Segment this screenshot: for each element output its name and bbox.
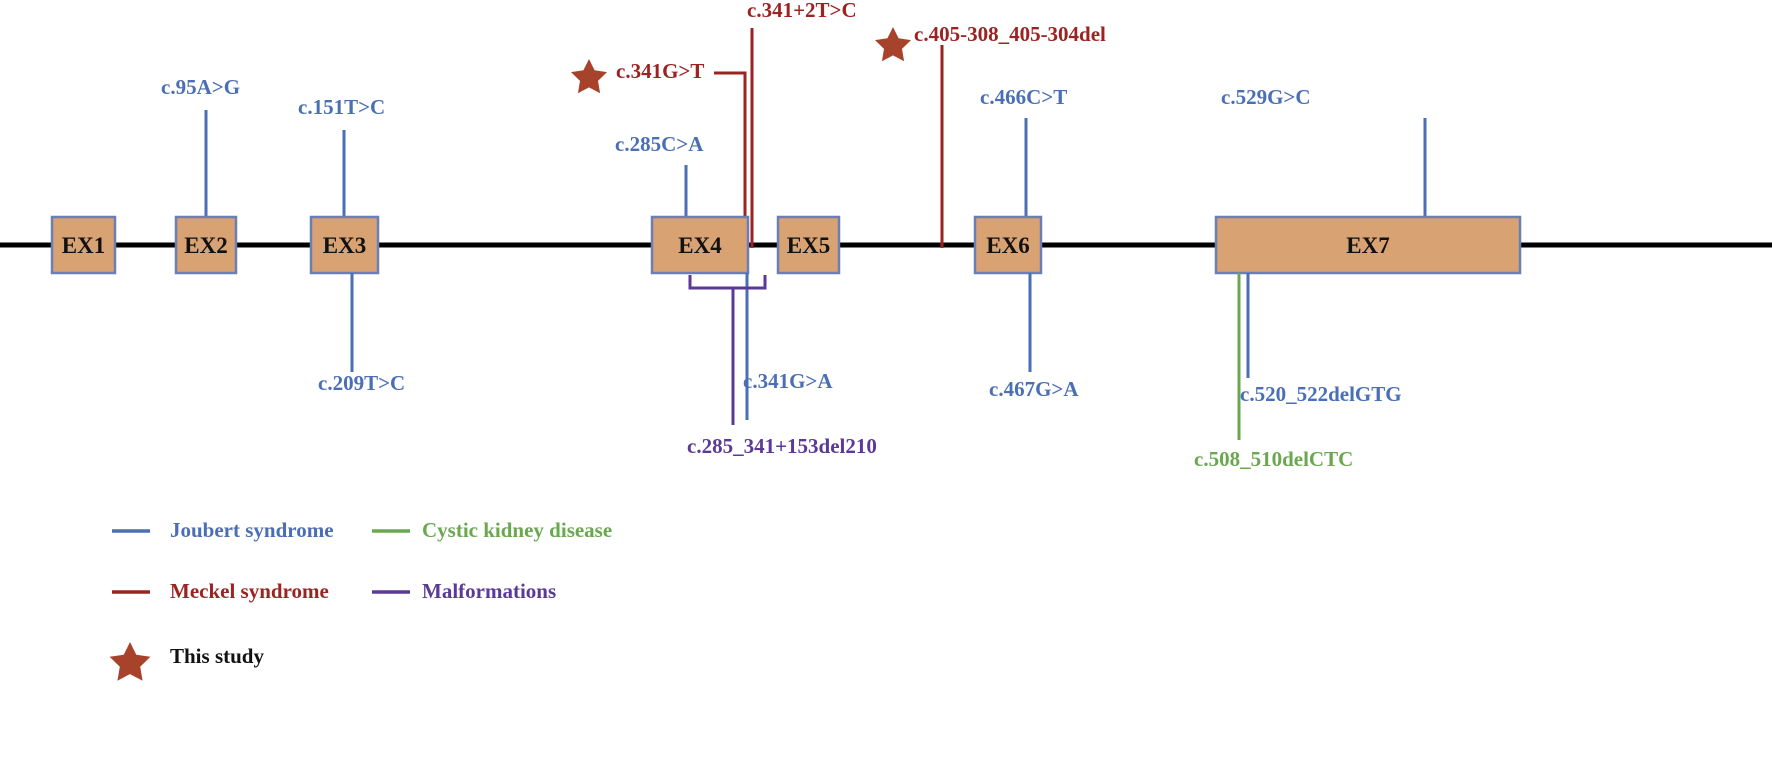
exon-label-ex4: EX4 [652, 234, 748, 257]
exon-label-ex5: EX5 [778, 234, 839, 257]
legend-label-meckel: Meckel syndrome [170, 581, 329, 602]
exon-label-ex6: EX6 [975, 234, 1041, 257]
variant-label-c405-308del: c.405-308_405-304del [914, 24, 1106, 45]
variant-label-c341GA: c.341G>A [743, 371, 833, 392]
variant-label-c209TC: c.209T>C [318, 373, 405, 394]
exon-label-ex3: EX3 [311, 234, 378, 257]
variant-label-c508-510delCTC: c.508_510delCTC [1194, 449, 1353, 470]
variant-label-c529GC: c.529G>C [1221, 87, 1311, 108]
variant-label-c520-522delGTG: c.520_522delGTG [1240, 384, 1402, 405]
star-icon-c341GT [571, 59, 607, 93]
variant-label-c285-341del210: c.285_341+153del210 [687, 436, 877, 457]
legend-label-this-study: This study [170, 646, 264, 667]
legend-label-joubert: Joubert syndrome [170, 520, 334, 541]
variant-label-c285CA: c.285C>A [615, 134, 703, 155]
variant-label-c466CT: c.466C>T [980, 87, 1067, 108]
variant-label-c341plus2TC: c.341+2T>C [747, 0, 857, 21]
variant-label-c341GT: c.341G>T [616, 61, 704, 82]
exon-label-ex7: EX7 [1216, 234, 1520, 257]
gene-variant-figure: EX1 EX2 EX3 EX4 EX5 EX6 EX7 c.95A>G c.15… [0, 0, 1772, 759]
variant-label-c151TC: c.151T>C [298, 97, 385, 118]
exon-label-ex2: EX2 [176, 234, 236, 257]
variant-label-c467GA: c.467G>A [989, 379, 1079, 400]
variant-label-c95AG: c.95A>G [161, 77, 240, 98]
legend-marker-this-study-star-icon [110, 642, 151, 681]
star-icon-c405-308del [875, 27, 911, 61]
exon-label-ex1: EX1 [52, 234, 115, 257]
legend-label-malformations: Malformations [422, 581, 556, 602]
bracket-c285-341del210 [690, 275, 765, 295]
figure-canvas [0, 0, 1772, 759]
legend-label-cystic: Cystic kidney disease [422, 520, 612, 541]
